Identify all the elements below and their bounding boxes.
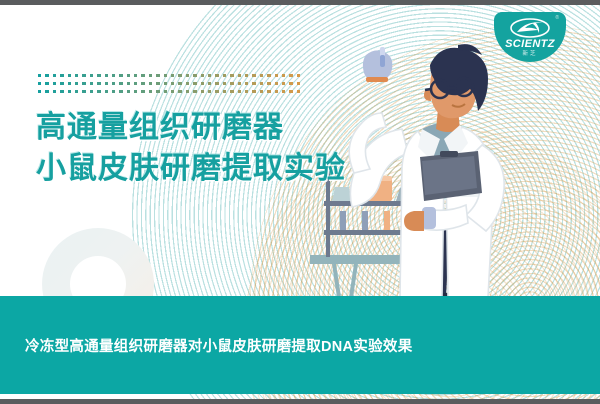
dot-grid-dot — [186, 90, 189, 93]
dot-grid-dot — [149, 74, 152, 77]
dot-grid-dot — [252, 90, 255, 93]
dot-grid-dot — [149, 82, 152, 85]
dot-grid-dot — [230, 90, 233, 93]
dot-grid-dot — [105, 74, 108, 77]
dot-grid-dot — [105, 90, 108, 93]
dot-grid-dot — [38, 74, 41, 77]
poster-canvas: ® SCIENTZ 新芝 高通量组织研磨器 小鼠皮肤研磨提取实验 冷冻型高通量组… — [0, 5, 600, 399]
poster-image: ® SCIENTZ 新芝 高通量组织研磨器 小鼠皮肤研磨提取实验 冷冻型高通量组… — [0, 0, 600, 404]
dot-grid-dot — [171, 90, 174, 93]
clipboard-icon — [420, 151, 482, 201]
dot-grid-dot — [186, 74, 189, 77]
dot-grid-dot — [252, 82, 255, 85]
dot-grid-dot — [275, 74, 278, 77]
dot-grid-dot — [119, 74, 122, 77]
logo-chinese-name: 新芝 — [494, 49, 566, 57]
dot-grid-dot — [297, 82, 300, 85]
dot-grid-dot — [245, 74, 248, 77]
dot-grid-dot — [215, 82, 218, 85]
dot-grid-dot — [68, 82, 71, 85]
dot-grid-dot — [164, 74, 167, 77]
dot-grid-dot — [297, 90, 300, 93]
frame-bottom-bar — [0, 399, 600, 404]
dot-grid-decoration — [38, 74, 290, 98]
dot-grid-dot — [97, 82, 100, 85]
dot-grid-dot — [193, 74, 196, 77]
dot-grid-dot — [223, 82, 226, 85]
dot-grid-dot — [82, 74, 85, 77]
dot-grid-dot — [141, 82, 144, 85]
dot-grid-dot — [178, 74, 181, 77]
dot-grid-dot — [260, 74, 263, 77]
dot-grid-dot — [223, 74, 226, 77]
scientz-logo: ® SCIENTZ 新芝 — [494, 12, 566, 62]
dot-grid-dot — [171, 74, 174, 77]
dot-grid-dot — [178, 82, 181, 85]
dot-grid-dot — [245, 82, 248, 85]
dot-grid-dot — [112, 74, 115, 77]
dot-grid-dot — [127, 90, 130, 93]
scientz-oval-emblem-icon — [509, 18, 551, 38]
dot-grid-dot — [275, 82, 278, 85]
dot-grid-dot — [260, 90, 263, 93]
caption-text: 冷冻型高通量组织研磨器对小鼠皮肤研磨提取DNA实验效果 — [25, 335, 413, 356]
dot-grid-dot — [97, 74, 100, 77]
dot-grid-dot — [119, 82, 122, 85]
dot-grid-dot — [75, 74, 78, 77]
scientist-figure-icon — [349, 44, 504, 303]
dot-grid-dot — [90, 82, 93, 85]
dot-grid-dot — [90, 90, 93, 93]
dot-grid-dot — [267, 74, 270, 77]
dot-grid-dot — [134, 74, 137, 77]
dot-grid-dot — [149, 90, 152, 93]
dot-grid-dot — [267, 90, 270, 93]
dot-grid-dot — [282, 90, 285, 93]
dot-grid-dot — [186, 82, 189, 85]
dot-grid-dot — [215, 90, 218, 93]
dot-grid-dot — [193, 90, 196, 93]
dot-grid-dot — [156, 90, 159, 93]
dot-grid-dot — [156, 74, 159, 77]
dot-grid-dot — [215, 74, 218, 77]
caption-banner: 冷冻型高通量组织研磨器对小鼠皮肤研磨提取DNA实验效果 — [0, 296, 600, 394]
headline: 高通量组织研磨器 小鼠皮肤研磨提取实验 — [36, 107, 346, 190]
dot-grid-dot — [171, 82, 174, 85]
dot-grid-dot — [45, 82, 48, 85]
registered-trademark-icon: ® — [555, 16, 559, 21]
dot-grid-dot — [282, 74, 285, 77]
dot-grid-dot — [53, 74, 56, 77]
dot-grid-dot — [223, 90, 226, 93]
dot-grid-dot — [45, 90, 48, 93]
dot-grid-dot — [68, 74, 71, 77]
dot-grid-dot — [127, 82, 130, 85]
dot-grid-dot — [201, 82, 204, 85]
dot-grid-dot — [193, 82, 196, 85]
dot-grid-dot — [230, 74, 233, 77]
dot-grid-dot — [90, 74, 93, 77]
dot-grid-dot — [38, 82, 41, 85]
dot-grid-dot — [289, 82, 292, 85]
headline-line-1: 高通量组织研磨器 — [36, 107, 346, 148]
dot-grid-row — [38, 82, 290, 90]
dot-grid-dot — [75, 90, 78, 93]
dot-grid-dot — [45, 74, 48, 77]
dot-grid-dot — [53, 82, 56, 85]
dot-grid-dot — [68, 90, 71, 93]
dot-grid-dot — [141, 74, 144, 77]
dot-grid-dot — [38, 90, 41, 93]
dot-grid-dot — [238, 74, 241, 77]
dot-grid-dot — [97, 90, 100, 93]
dot-grid-dot — [245, 90, 248, 93]
dot-grid-dot — [141, 90, 144, 93]
dot-grid-dot — [112, 90, 115, 93]
dot-grid-dot — [134, 90, 137, 93]
dot-grid-dot — [289, 74, 292, 77]
dot-grid-dot — [275, 90, 278, 93]
dot-grid-dot — [289, 90, 292, 93]
dot-grid-dot — [238, 82, 241, 85]
dot-grid-dot — [112, 82, 115, 85]
dot-grid-dot — [297, 74, 300, 77]
dot-grid-dot — [156, 82, 159, 85]
dot-grid-dot — [238, 90, 241, 93]
dot-grid-dot — [201, 74, 204, 77]
dot-grid-dot — [53, 90, 56, 93]
dot-grid-row — [38, 74, 290, 82]
dot-grid-dot — [208, 90, 211, 93]
dot-grid-dot — [134, 82, 137, 85]
dot-grid-dot — [260, 82, 263, 85]
dot-grid-dot — [164, 82, 167, 85]
dot-grid-dot — [230, 82, 233, 85]
dot-grid-dot — [105, 82, 108, 85]
dot-grid-dot — [178, 90, 181, 93]
dot-grid-row — [38, 90, 290, 98]
dot-grid-dot — [60, 74, 63, 77]
dot-grid-dot — [82, 90, 85, 93]
dot-grid-dot — [60, 82, 63, 85]
dot-grid-dot — [82, 82, 85, 85]
scientist-illustration — [310, 25, 580, 317]
dot-grid-dot — [267, 82, 270, 85]
dot-grid-dot — [127, 74, 130, 77]
dot-grid-dot — [119, 90, 122, 93]
dot-grid-dot — [208, 82, 211, 85]
headline-line-2: 小鼠皮肤研磨提取实验 — [36, 148, 346, 189]
dot-grid-dot — [164, 90, 167, 93]
dot-grid-dot — [75, 82, 78, 85]
dot-grid-dot — [60, 90, 63, 93]
dot-grid-dot — [252, 74, 255, 77]
dot-grid-dot — [201, 90, 204, 93]
dot-grid-dot — [208, 74, 211, 77]
frame-top-bar — [0, 0, 600, 5]
dot-grid-dot — [282, 82, 285, 85]
